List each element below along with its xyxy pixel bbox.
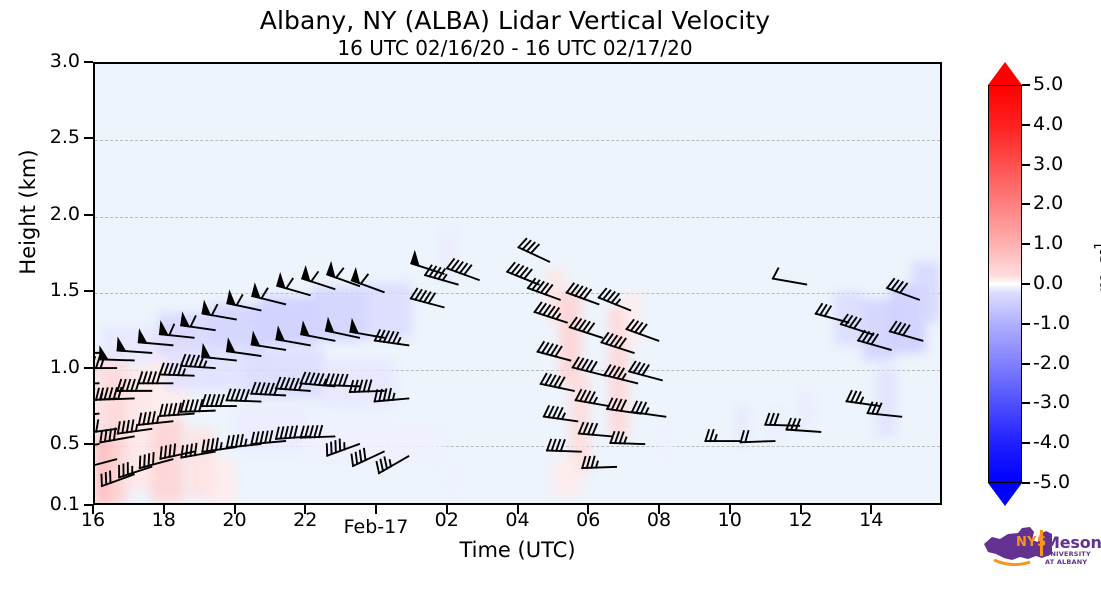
wind-barb (350, 321, 383, 338)
x-tick-mark-Feb-17 (375, 505, 377, 514)
wind-barb (95, 373, 99, 385)
wind-barb (535, 303, 567, 323)
colorbar-max-extend-arrow (988, 62, 1022, 85)
wind-barbs-layer (95, 64, 940, 505)
colorbar-tick-label-0.0: 0.0 (1033, 272, 1089, 294)
colorbar-tick-mark--1.0 (1022, 323, 1030, 325)
wind-barb (377, 456, 409, 473)
colorbar-tick-label-1.0: 1.0 (1033, 232, 1089, 254)
wind-barb (327, 439, 359, 455)
colorbar-tick-label--5.0: -5.0 (1033, 471, 1089, 493)
x-tick-mark-06 (587, 505, 589, 514)
plot-area (93, 62, 942, 505)
wind-barb (140, 453, 173, 468)
wind-barb (632, 402, 666, 417)
wind-barb (117, 380, 151, 391)
colorbar[interactable] (988, 62, 1022, 506)
y-tick-mark-1.5 (84, 290, 93, 292)
wind-barb (118, 420, 152, 433)
y-tick-mark-3.0 (84, 61, 93, 63)
figure-canvas: Albany, NY (ALBA) Lidar Vertical Velocit… (0, 0, 1101, 600)
wind-barb (599, 289, 630, 311)
x-tick-mark-16 (92, 505, 94, 514)
wind-barb (582, 457, 616, 468)
y-tick-mark-2.5 (84, 137, 93, 139)
colorbar-tick-label-4.0: 4.0 (1033, 113, 1089, 135)
wind-barb (741, 431, 775, 442)
wind-barb (858, 331, 891, 350)
colorbar-label: m s-1 (1093, 197, 1101, 337)
colorbar-gradient (988, 85, 1022, 483)
wind-barb (528, 279, 560, 300)
colorbar-tick-mark-1.0 (1022, 243, 1030, 245)
x-tick-label-Feb-17: Feb-17 (331, 516, 421, 538)
y-tick-label-1.0: 1.0 (28, 356, 80, 378)
wind-barb (202, 439, 236, 452)
wind-barb (95, 404, 99, 416)
wind-barb (887, 279, 919, 300)
wind-barb (573, 358, 606, 376)
colorbar-tick-label--4.0: -4.0 (1033, 431, 1089, 453)
x-tick-mark-14 (870, 505, 872, 514)
y-tick-label-3.0: 3.0 (28, 50, 80, 72)
colorbar-tick-mark--4.0 (1022, 442, 1030, 444)
wind-barb (411, 289, 444, 307)
chart-subtitle: 16 UTC 02/16/20 - 16 UTC 02/17/20 (0, 36, 1030, 60)
wind-barb (567, 284, 599, 305)
wind-barb (570, 318, 602, 338)
y-tick-mark-0.5 (84, 443, 93, 445)
wind-barb (139, 412, 173, 425)
wind-barb (541, 374, 574, 391)
x-tick-mark-08 (658, 505, 660, 514)
wind-barb (544, 406, 578, 421)
wind-barb (227, 435, 261, 448)
wind-barb (519, 239, 550, 262)
colorbar-tick-mark-0.0 (1022, 283, 1030, 285)
chart-title: Albany, NY (ALBA) Lidar Vertical Velocit… (0, 6, 1030, 35)
wind-barb (95, 342, 99, 353)
y-tick-mark-1.0 (84, 367, 93, 369)
colorbar-tick-mark-5.0 (1022, 84, 1030, 86)
wind-barb (847, 391, 881, 406)
colorbar-tick-label-2.0: 2.0 (1033, 192, 1089, 214)
colorbar-tick-mark-2.0 (1022, 203, 1030, 205)
wind-barb (705, 430, 739, 441)
colorbar-tick-label-3.0: 3.0 (1033, 153, 1089, 175)
x-tick-mark-12 (800, 505, 802, 514)
x-tick-mark-20 (234, 505, 236, 514)
y-axis-label: Height (km) (16, 122, 40, 302)
colorbar-tick-label--3.0: -3.0 (1033, 391, 1089, 413)
wind-barb (629, 362, 662, 380)
wind-barb (890, 322, 923, 341)
colorbar-tick-mark-3.0 (1022, 164, 1030, 166)
wind-barb (352, 449, 384, 466)
x-tick-mark-02 (446, 505, 448, 514)
colorbar-min-extend-arrow (988, 483, 1022, 506)
colorbar-tick-label--2.0: -2.0 (1033, 352, 1089, 374)
y-tick-mark-2.0 (84, 214, 93, 216)
wind-barb (160, 404, 194, 416)
logo-nys-text: NYS (1016, 535, 1047, 550)
x-tick-mark-22 (304, 505, 306, 514)
wind-barb (301, 426, 335, 438)
x-axis-label: Time (UTC) (93, 538, 942, 562)
logo-university-text: UNIVERSITY AT ALBANY (1045, 550, 1098, 566)
wind-barb (95, 454, 116, 468)
wind-barb (601, 333, 633, 353)
colorbar-label-exponent: -1 (1093, 241, 1101, 254)
wind-barb (547, 440, 581, 452)
x-tick-mark-18 (163, 505, 165, 514)
wind-barb (579, 423, 613, 437)
wind-barb (227, 390, 261, 402)
colorbar-tick-mark--5.0 (1022, 482, 1030, 484)
colorbar-tick-mark--2.0 (1022, 363, 1030, 365)
wind-barb (119, 463, 151, 477)
x-tick-mark-10 (729, 505, 731, 514)
nys-mesonet-logo: NYS Mesonet UNIVERSITY AT ALBANY (978, 520, 1098, 572)
colorbar-tick-mark--3.0 (1022, 402, 1030, 404)
wind-barb (773, 268, 806, 284)
wind-barb (203, 303, 236, 320)
wind-barb (627, 320, 659, 341)
wind-barb (181, 315, 215, 331)
wind-barb (538, 342, 571, 360)
wind-barb (610, 432, 644, 444)
wind-barb (576, 390, 609, 406)
colorbar-tick-label-5.0: 5.0 (1033, 73, 1089, 95)
x-tick-mark-04 (517, 505, 519, 514)
colorbar-tick-label--1.0: -1.0 (1033, 312, 1089, 334)
wind-barb (352, 270, 384, 292)
y-tick-label-0.5: 0.5 (28, 432, 80, 454)
wind-barb (447, 259, 479, 280)
wind-barb (95, 437, 99, 450)
wind-barb (252, 285, 285, 304)
colorbar-label-unit: m s (1093, 254, 1101, 292)
colorbar-tick-mark-4.0 (1022, 124, 1030, 126)
